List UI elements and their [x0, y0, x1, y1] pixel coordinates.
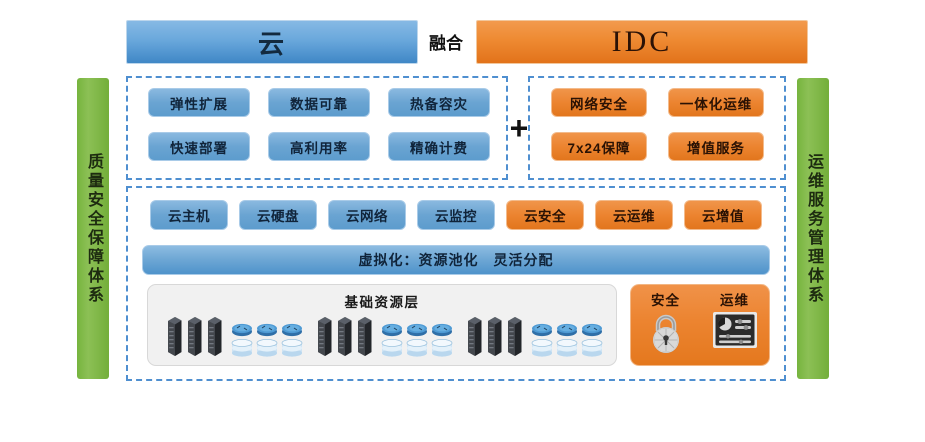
network-storage-stack	[381, 322, 403, 357]
service-label: 云监控	[435, 205, 477, 225]
idc-feature-label: 增值服务	[687, 137, 745, 157]
fusion-text: 融合	[429, 29, 463, 54]
security-label: 安全	[651, 289, 680, 309]
service-box: 云增值	[684, 200, 762, 230]
service-box: 云主机	[150, 200, 228, 230]
service-label: 云增值	[702, 205, 744, 225]
virtualization-bar: 虚拟化：资源池化 灵活分配	[142, 245, 770, 275]
cloud-feature-label: 弹性扩展	[170, 93, 228, 113]
infrastructure-group	[466, 315, 603, 357]
banner-idc-label: IDC	[612, 25, 673, 59]
cloud-feature-box: 数据可靠	[268, 88, 370, 117]
idc-feature-box: 增值服务	[668, 132, 764, 161]
server-cluster	[466, 315, 523, 357]
service-box: 云监控	[417, 200, 495, 230]
cloud-feature-box: 精确计费	[388, 132, 490, 161]
storage-disk-icon	[556, 339, 578, 357]
storage-disk-icon	[281, 339, 303, 357]
router-icon	[531, 322, 553, 337]
network-storage-cluster	[231, 322, 303, 357]
server-rack-icon	[356, 315, 373, 357]
virtualization-label: 虚拟化：资源池化 灵活分配	[359, 250, 554, 270]
server-rack-icon	[316, 315, 333, 357]
router-icon	[381, 322, 403, 337]
server-cluster	[316, 315, 373, 357]
security-ops-panel: 安全	[630, 284, 770, 366]
idc-feature-box: 7x24保障	[551, 132, 647, 161]
server-rack-icon	[466, 315, 483, 357]
cloud-feature-label: 精确计费	[410, 137, 468, 157]
cloud-feature-box: 弹性扩展	[148, 88, 250, 117]
server-cluster	[166, 315, 223, 357]
banner-cloud: 云	[126, 20, 418, 64]
server-rack-icon	[506, 315, 523, 357]
infrastructure-panel: 基础资源层	[147, 284, 617, 366]
network-storage-stack	[256, 322, 278, 357]
infrastructure-title: 基础资源层	[148, 291, 616, 311]
service-label: 云安全	[524, 205, 566, 225]
router-icon	[256, 322, 278, 337]
service-box: 云硬盘	[239, 200, 317, 230]
cloud-feature-label: 数据可靠	[290, 93, 348, 113]
network-storage-cluster	[531, 322, 603, 357]
server-rack-icon	[186, 315, 203, 357]
server-rack-icon	[166, 315, 183, 357]
ops-cell: 运维	[704, 289, 766, 354]
cloud-feature-box: 热备容灾	[388, 88, 490, 117]
router-icon	[556, 322, 578, 337]
dashboard-monitor-icon	[712, 311, 758, 354]
storage-disk-icon	[531, 339, 553, 357]
service-label: 云主机	[168, 205, 210, 225]
idc-feature-label: 网络安全	[570, 93, 628, 113]
network-storage-stack	[406, 322, 428, 357]
network-storage-stack	[281, 322, 303, 357]
service-label: 云网络	[346, 205, 388, 225]
cloud-feature-label: 热备容灾	[410, 93, 468, 113]
security-cell: 安全	[635, 289, 697, 358]
service-label: 云硬盘	[257, 205, 299, 225]
storage-disk-icon	[581, 339, 603, 357]
side-band-quality-assurance: 质量安全保障体系	[77, 78, 109, 379]
service-box: 云网络	[328, 200, 406, 230]
idc-feature-label: 7x24保障	[567, 137, 630, 157]
storage-disk-icon	[231, 339, 253, 357]
idc-feature-label: 一体化运维	[680, 93, 753, 113]
storage-disk-icon	[256, 339, 278, 357]
side-band-ops-management: 运维服务管理体系	[797, 78, 829, 379]
storage-disk-icon	[431, 339, 453, 357]
server-rack-icon	[336, 315, 353, 357]
router-icon	[231, 322, 253, 337]
server-rack-icon	[486, 315, 503, 357]
infrastructure-group	[316, 315, 453, 357]
network-storage-stack	[431, 322, 453, 357]
network-storage-cluster	[381, 322, 453, 357]
plus-icon: +	[508, 110, 530, 146]
network-storage-stack	[556, 322, 578, 357]
infrastructure-group	[166, 315, 303, 357]
storage-disk-icon	[381, 339, 403, 357]
storage-disk-icon	[406, 339, 428, 357]
router-icon	[431, 322, 453, 337]
idc-feature-box: 一体化运维	[668, 88, 764, 117]
banner-fusion-label: 融合	[420, 20, 472, 62]
ops-label: 运维	[720, 289, 749, 309]
idc-feature-box: 网络安全	[551, 88, 647, 117]
banner-idc: IDC	[476, 20, 808, 64]
cloud-feature-label: 快速部署	[170, 137, 228, 157]
side-band-right-label: 运维服务管理体系	[805, 153, 821, 305]
banner-cloud-label: 云	[258, 24, 286, 61]
side-band-left-label: 质量安全保障体系	[85, 153, 101, 305]
cloud-feature-box: 快速部署	[148, 132, 250, 161]
network-storage-stack	[581, 322, 603, 357]
server-rack-icon	[206, 315, 223, 357]
plus-glyph: +	[510, 112, 529, 144]
router-icon	[281, 322, 303, 337]
padlock-icon	[646, 311, 686, 358]
service-box: 云安全	[506, 200, 584, 230]
diagram-canvas: 云 融合 IDC 质量安全保障体系 运维服务管理体系 弹性扩展数据可靠热备容灾快…	[0, 0, 925, 442]
router-icon	[406, 322, 428, 337]
router-icon	[581, 322, 603, 337]
network-storage-stack	[231, 322, 253, 357]
cloud-feature-label: 高利用率	[290, 137, 348, 157]
service-label: 云运维	[613, 205, 655, 225]
service-box: 云运维	[595, 200, 673, 230]
network-storage-stack	[531, 322, 553, 357]
cloud-feature-box: 高利用率	[268, 132, 370, 161]
